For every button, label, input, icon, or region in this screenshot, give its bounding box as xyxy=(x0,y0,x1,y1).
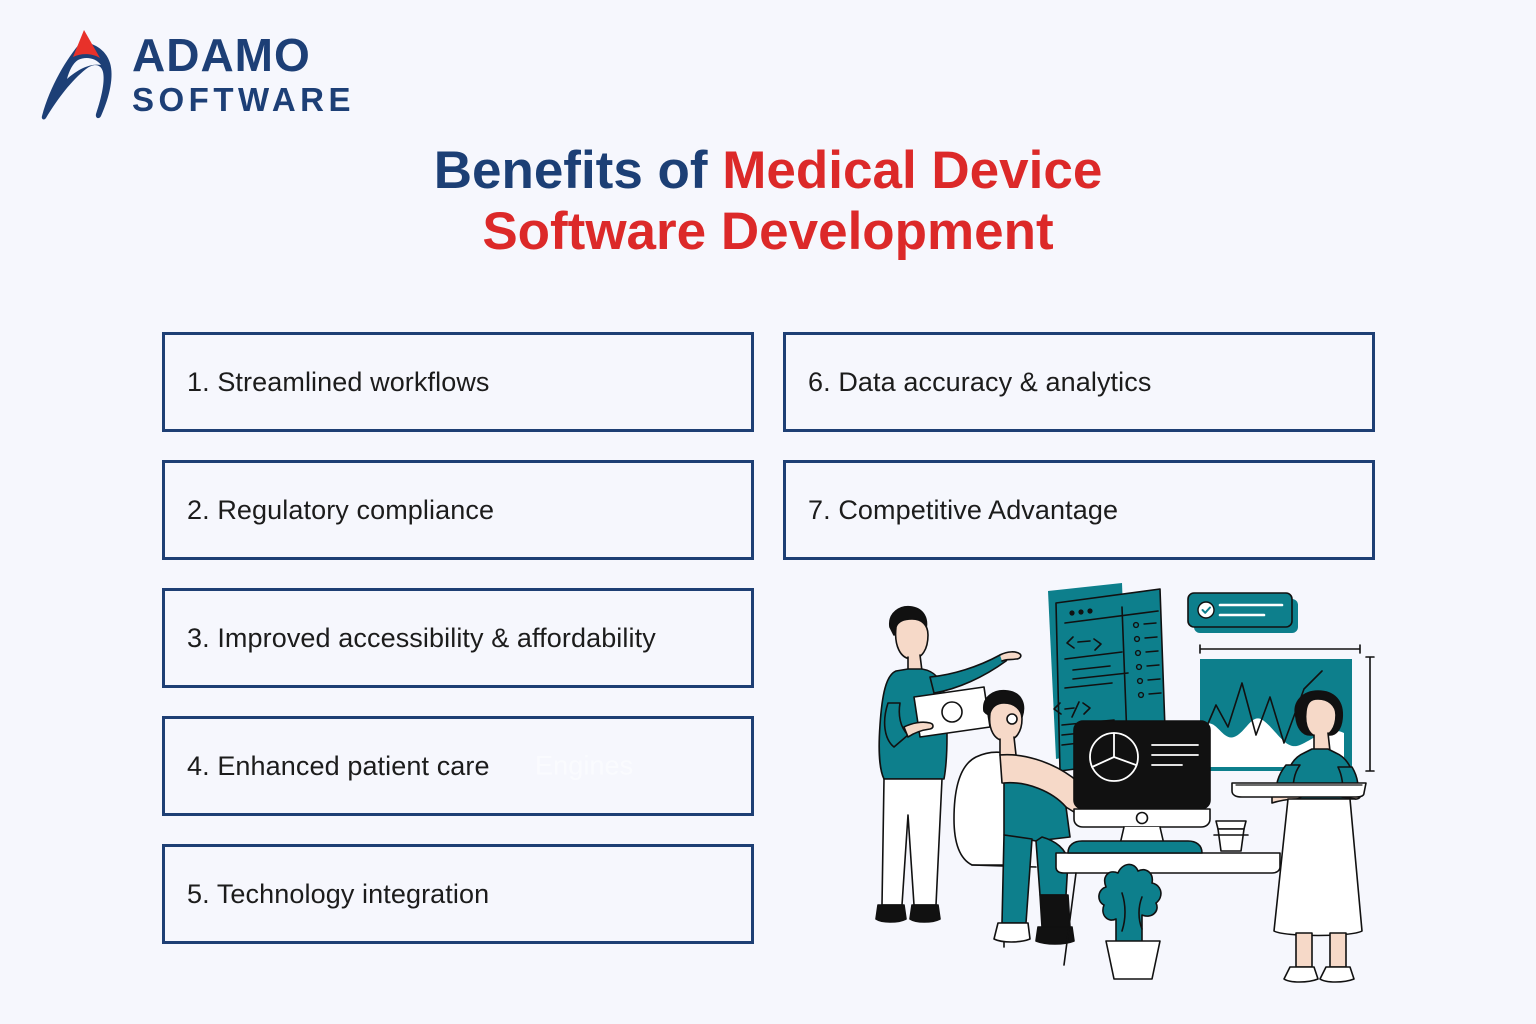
benefits-right-column: 6. Data accuracy & analytics 7. Competit… xyxy=(783,332,1375,588)
title-part-benefits-of: Benefits of xyxy=(434,141,723,200)
benefit-label: 7. Competitive Advantage xyxy=(786,495,1118,526)
checkmark-notification-card xyxy=(1188,593,1298,633)
page-title: Benefits of Medical Device Software Deve… xyxy=(0,140,1536,263)
benefit-label: 4. Enhanced patient care xyxy=(165,751,490,782)
benefit-label: 2. Regulatory compliance xyxy=(165,495,494,526)
pie-chart-monitor xyxy=(1074,721,1210,853)
benefit-label: 3. Improved accessibility & affordabilit… xyxy=(165,623,656,654)
title-part-medical-device: Medical Device xyxy=(722,141,1102,200)
benefit-ghost-label: Engines xyxy=(535,751,633,782)
brand-name-software: SOFTWARE xyxy=(132,83,355,116)
benefit-item-1[interactable]: 1. Streamlined workflows xyxy=(162,332,754,432)
desk xyxy=(1056,821,1280,965)
benefit-item-6[interactable]: 6. Data accuracy & analytics xyxy=(783,332,1375,432)
benefits-left-column: 1. Streamlined workflows 2. Regulatory c… xyxy=(162,332,754,972)
benefit-label: 5. Technology integration xyxy=(165,879,489,910)
benefit-item-7[interactable]: 7. Competitive Advantage xyxy=(783,460,1375,560)
brand-name-adamo: ADAMO xyxy=(132,32,355,78)
brand-wordmark: ADAMO SOFTWARE xyxy=(132,32,355,116)
team-working-at-desk-illustration xyxy=(860,575,1420,995)
benefit-label: 1. Streamlined workflows xyxy=(165,367,490,398)
adamo-swoosh-logo-icon xyxy=(34,24,118,124)
benefit-label: 6. Data accuracy & analytics xyxy=(786,367,1151,398)
title-line-2: Software Development xyxy=(0,201,1536,262)
line-chart-panel xyxy=(1200,645,1374,771)
benefit-item-3[interactable]: 3. Improved accessibility & affordabilit… xyxy=(162,588,754,688)
benefit-item-5[interactable]: 5. Technology integration xyxy=(162,844,754,944)
brand-logo: ADAMO SOFTWARE xyxy=(34,24,355,124)
benefit-item-4[interactable]: 4. Enhanced patient care Engines xyxy=(162,716,754,816)
title-line-1: Benefits of Medical Device xyxy=(0,140,1536,201)
benefit-item-2[interactable]: 2. Regulatory compliance xyxy=(162,460,754,560)
potted-cactus xyxy=(1099,864,1161,979)
